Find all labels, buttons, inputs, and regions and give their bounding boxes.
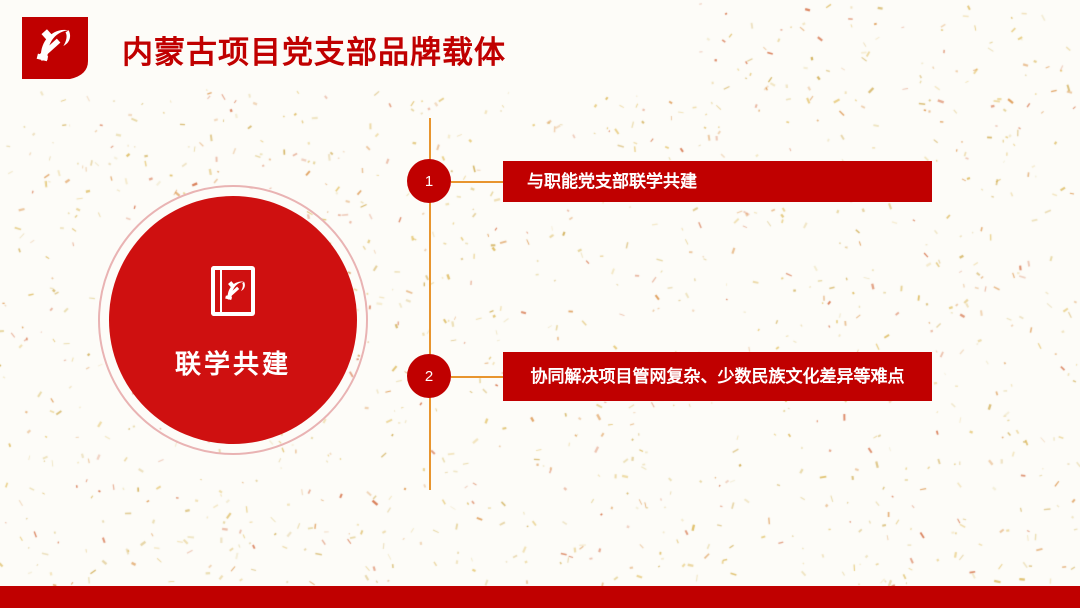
- party-emblem-icon: [22, 17, 88, 79]
- connector-branch-2: [451, 376, 503, 378]
- item-bar[interactable]: 协同解决项目管网复杂、少数民族文化差异等难点: [503, 352, 932, 401]
- item-number-badge: 1: [407, 159, 451, 203]
- item-bar[interactable]: 与职能党支部联学共建: [503, 161, 932, 202]
- item-text: 协同解决项目管网复杂、少数民族文化差异等难点: [503, 363, 932, 390]
- page-title: 内蒙古项目党支部品牌载体: [122, 27, 506, 72]
- connector-branch-1: [451, 181, 503, 183]
- main-circle: 联学共建: [98, 185, 368, 455]
- slide: 内蒙古项目党支部品牌载体: [0, 0, 1080, 608]
- slide-header: 内蒙古项目党支部品牌载体: [0, 0, 1080, 92]
- footer-bar: [0, 586, 1080, 608]
- item-text: 与职能党支部联学共建: [503, 168, 713, 195]
- circle-label: 联学共建: [175, 344, 291, 381]
- item-number-badge: 2: [407, 354, 451, 398]
- party-book-icon: [202, 260, 264, 322]
- circle-body: 联学共建: [109, 196, 357, 444]
